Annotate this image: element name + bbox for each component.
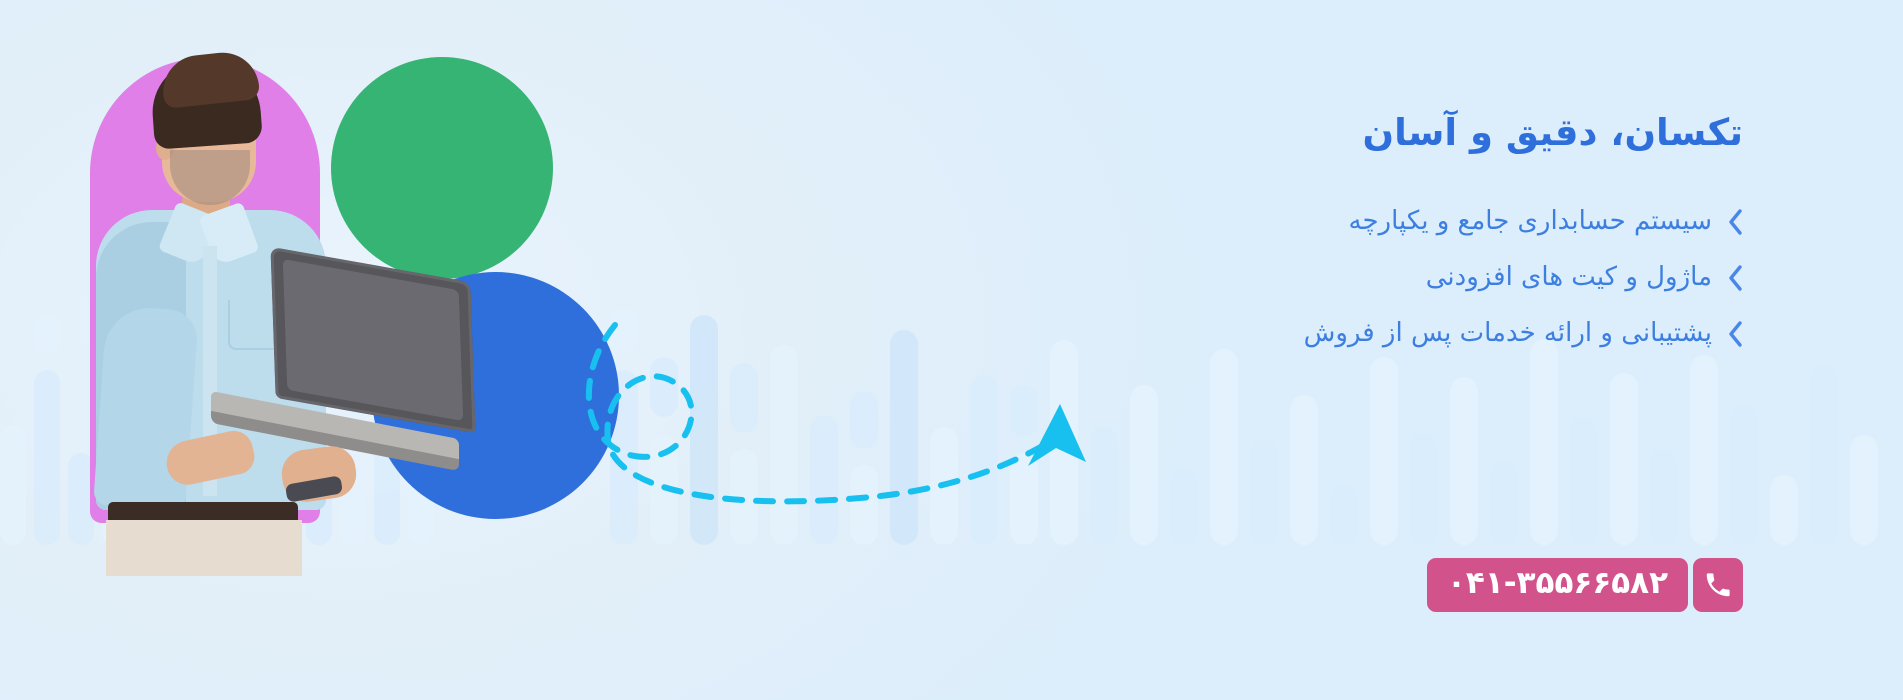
chevron-left-icon — [1728, 321, 1743, 347]
phone-badge[interactable]: ۰۴۱-۳۵۵۶۶۵۸۲ — [1427, 558, 1743, 612]
list-item[interactable]: ماژول و کیت های افزودنی — [983, 260, 1743, 295]
feature-label: ماژول و کیت های افزودنی — [1426, 260, 1712, 295]
list-item[interactable]: پشتیبانی و ارائه خدمات پس از فروش — [983, 316, 1743, 351]
page-title: تکسان، دقیق و آسان — [983, 110, 1743, 156]
list-item[interactable]: سیستم حسابداری جامع و یکپارچه — [983, 204, 1743, 239]
hero-banner: تکسان، دقیق و آسان سیستم حسابداری جامع و… — [0, 0, 1903, 700]
phone-number[interactable]: ۰۴۱-۳۵۵۶۶۵۸۲ — [1427, 558, 1688, 612]
feature-label: پشتیبانی و ارائه خدمات پس از فروش — [1304, 316, 1712, 351]
feature-label: سیستم حسابداری جامع و یکپارچه — [1349, 204, 1712, 239]
photo-cluster — [0, 0, 620, 560]
phone-icon-button[interactable] — [1693, 558, 1743, 612]
chevron-left-icon — [1728, 265, 1743, 291]
chevron-left-icon — [1728, 209, 1743, 235]
hero-content: تکسان، دقیق و آسان سیستم حسابداری جامع و… — [983, 110, 1743, 373]
man-with-laptop-photo — [70, 50, 400, 525]
feature-list: سیستم حسابداری جامع و یکپارچه ماژول و کی… — [983, 204, 1743, 351]
phone-icon — [1703, 570, 1733, 600]
